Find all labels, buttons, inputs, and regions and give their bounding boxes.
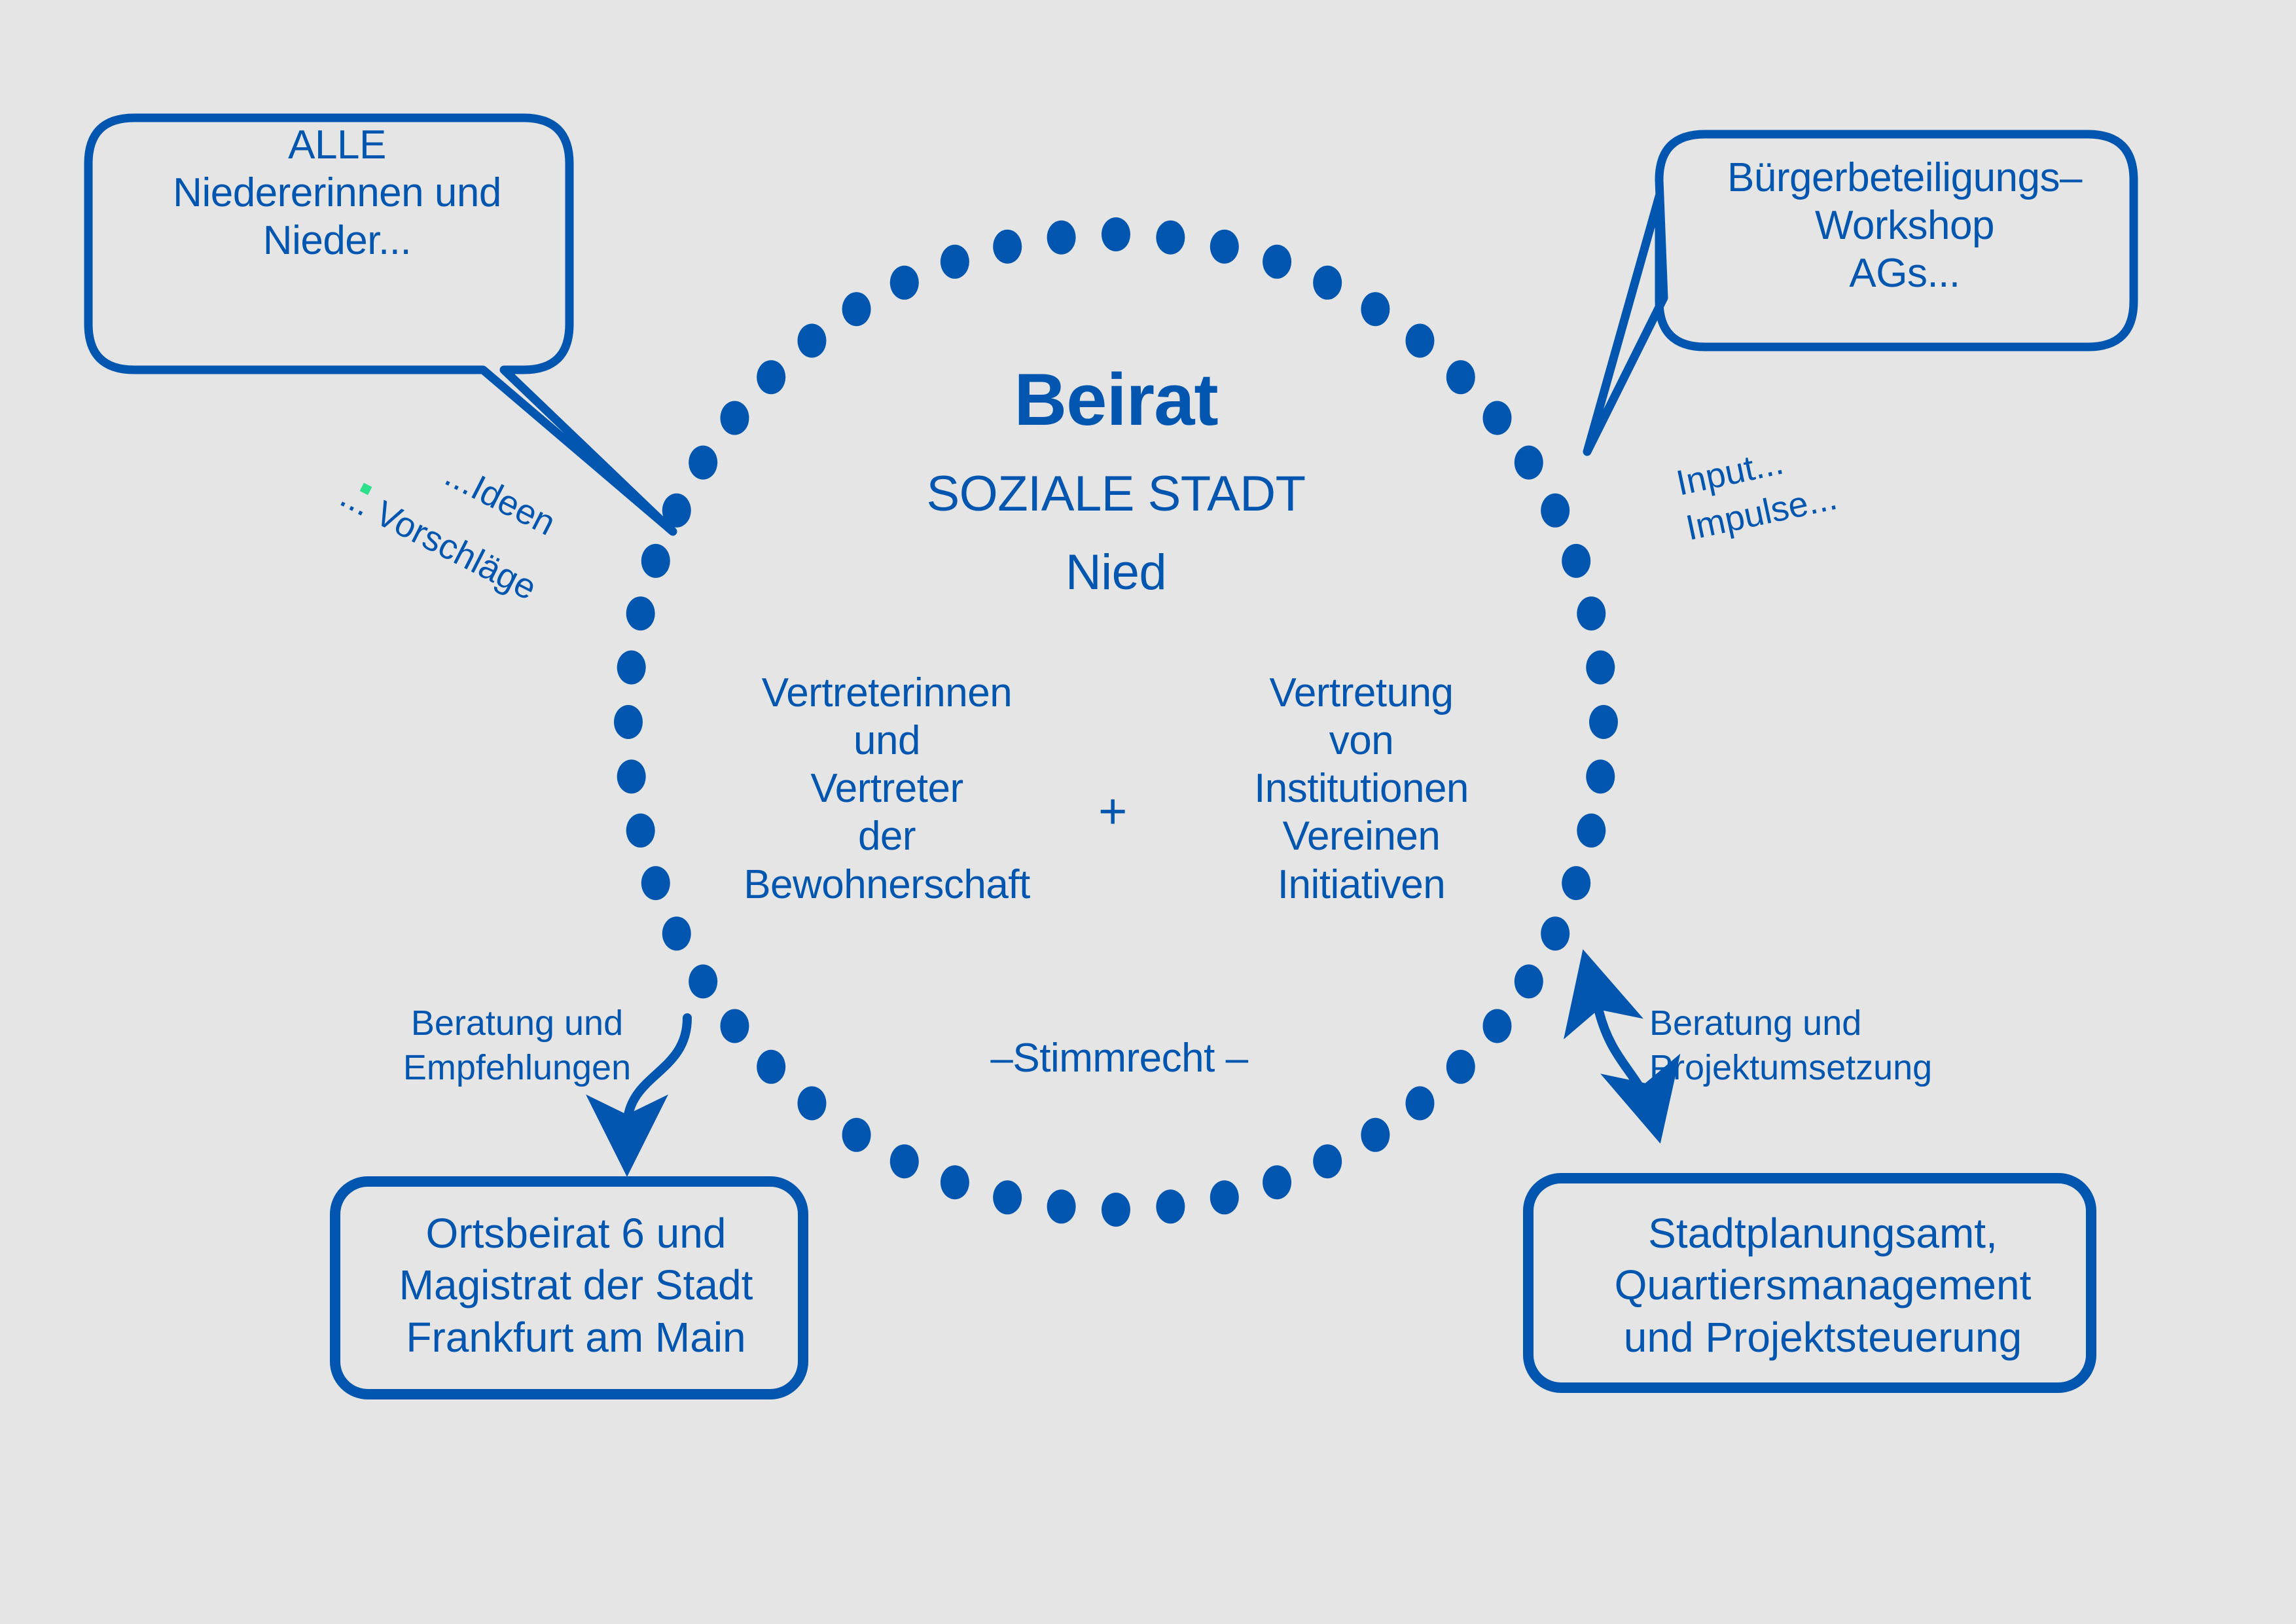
- ring-dot: [617, 759, 646, 793]
- ring-dot: [941, 245, 969, 279]
- ring-dot: [1515, 446, 1543, 480]
- ring-dot: [842, 292, 871, 326]
- ring-dot: [1483, 401, 1512, 435]
- ring-dot: [1361, 292, 1390, 326]
- ring-dot: [1562, 866, 1590, 900]
- ring-dot: [1541, 916, 1570, 950]
- plus-symbol: +: [1073, 782, 1152, 841]
- diagram-canvas: ALLE Niedererinnen und Nieder... Bürgerb…: [0, 0, 2296, 1624]
- annotation-beratung-empfehlungen: Beratung und Empfehlungen: [380, 1001, 655, 1090]
- ring-dot: [842, 1118, 871, 1152]
- box-ortsbeirat-label: Ortsbeirat 6 und Magistrat der Stadt Fra…: [347, 1208, 805, 1363]
- ring-dot: [1313, 1144, 1342, 1178]
- ring-dot: [1210, 1180, 1239, 1214]
- ring-dot: [626, 596, 655, 630]
- ring-dot: [641, 866, 670, 900]
- ring-dot: [1156, 1189, 1185, 1223]
- ring-dot: [1446, 360, 1475, 394]
- ring-dot: [757, 1050, 785, 1084]
- ring-dot: [890, 266, 919, 300]
- center-footer-stimmrecht: –Stimmrecht –: [916, 1034, 1322, 1082]
- ring-dot: [798, 1087, 827, 1121]
- ring-dot: [798, 324, 827, 358]
- center-column-right: Vertretung von Institutionen Vereinen In…: [1178, 669, 1545, 909]
- ring-dot: [993, 1180, 1022, 1214]
- ring-dot: [689, 964, 717, 998]
- center-column-left: Vertreterinnen und Vertreter der Bewohne…: [684, 669, 1090, 909]
- ring-dot: [993, 230, 1022, 264]
- ring-dot: [1446, 1050, 1475, 1084]
- ring-dot: [1406, 1087, 1435, 1121]
- ring-dot: [721, 401, 749, 435]
- box-stadtplanungsamt-label: Stadtplanungsamt, Quartiersmanagement un…: [1564, 1208, 2081, 1363]
- ring-dot: [1483, 1009, 1512, 1043]
- speech-bubble-left-label: ALLE Niedererinnen und Nieder...: [98, 121, 576, 264]
- ring-dot: [1047, 1189, 1076, 1223]
- ring-dot: [757, 360, 785, 394]
- ring-dot: [1102, 217, 1130, 251]
- ring-dot: [721, 1009, 749, 1043]
- ring-dot: [1406, 324, 1435, 358]
- annotation-beratung-projektumsetzung: Beratung und Projektumsetzung: [1649, 1001, 1990, 1090]
- ring-dot: [614, 705, 643, 739]
- ring-dot: [1577, 596, 1605, 630]
- ring-dot: [1156, 221, 1185, 255]
- center-subtitle-line2: Nied: [789, 543, 1443, 602]
- ring-dot: [641, 544, 670, 578]
- center-subtitle-line1: SOZIALE STADT: [789, 465, 1443, 524]
- ring-dot: [1102, 1193, 1130, 1227]
- ring-dot: [1586, 759, 1615, 793]
- ring-dot: [1515, 964, 1543, 998]
- center-title: Beirat: [789, 357, 1443, 443]
- ring-dot: [1589, 705, 1618, 739]
- ring-dot: [689, 446, 717, 480]
- ring-dot: [662, 916, 691, 950]
- ring-dot: [1263, 245, 1291, 279]
- ring-dot: [1577, 814, 1605, 848]
- ring-dot: [1361, 1118, 1390, 1152]
- arrow-beratung-projektumsetzung: [1599, 1011, 1656, 1126]
- ring-dot: [1210, 230, 1239, 264]
- ring-dot: [941, 1165, 969, 1199]
- ring-dot: [1541, 494, 1570, 528]
- ring-dot: [1313, 266, 1342, 300]
- ring-dot: [626, 814, 655, 848]
- ring-dot: [890, 1144, 919, 1178]
- ring-dot: [1263, 1165, 1291, 1199]
- speech-bubble-right-label: Bürgerbeteiligungs– Workshop AGs...: [1666, 154, 2144, 297]
- ring-dot: [1562, 544, 1590, 578]
- ring-dot: [617, 651, 646, 685]
- ring-dot: [1586, 651, 1615, 685]
- ring-dot: [1047, 221, 1076, 255]
